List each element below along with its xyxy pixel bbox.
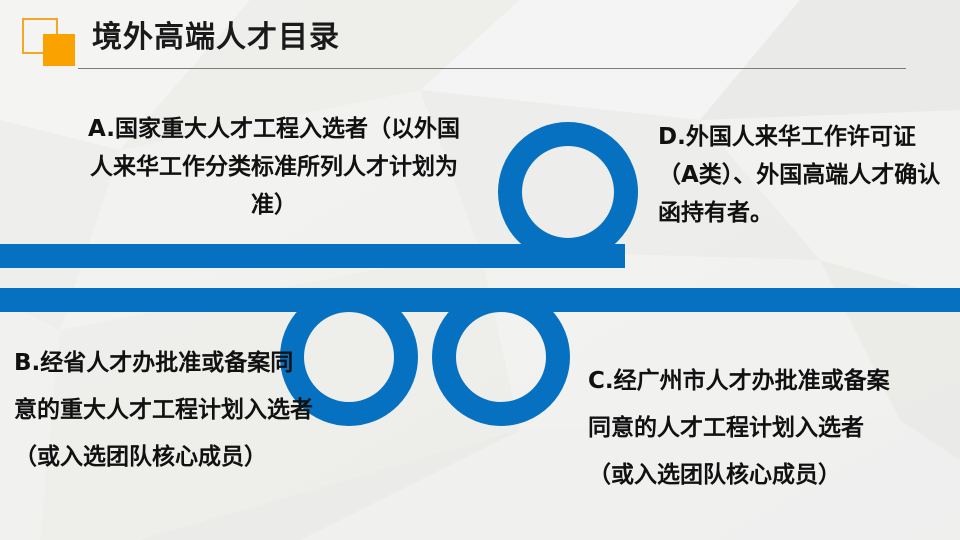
page-title: 境外高端人才目录 xyxy=(92,18,340,58)
item-d-text: D.外国人来华工作许可证（A类）、外国高端人才确认函持有者。 xyxy=(658,118,948,232)
ring-top xyxy=(510,134,626,250)
slide-canvas: 境外高端人才目录 A.国家重大人才工程入选者（以外国人来华工作分类标准所列人才计… xyxy=(0,0,960,540)
item-a-text: A.国家重大人才工程入选者（以外国人来华工作分类标准所列人才计划为准） xyxy=(84,110,464,224)
title-divider xyxy=(78,68,906,69)
item-b-text: B.经省人才办批准或备案同意的重大人才工程计划入选者（或入选团队核心成员） xyxy=(14,340,314,481)
bar-upper xyxy=(0,244,625,268)
bar-lower xyxy=(0,288,960,312)
item-c-text: C.经广州市人才办批准或备案同意的人才工程计划入选者（或入选团队核心成员） xyxy=(588,358,898,499)
decoration-filled-square xyxy=(43,34,75,66)
title-decoration xyxy=(22,18,84,66)
ring-bottom-right xyxy=(444,300,558,414)
